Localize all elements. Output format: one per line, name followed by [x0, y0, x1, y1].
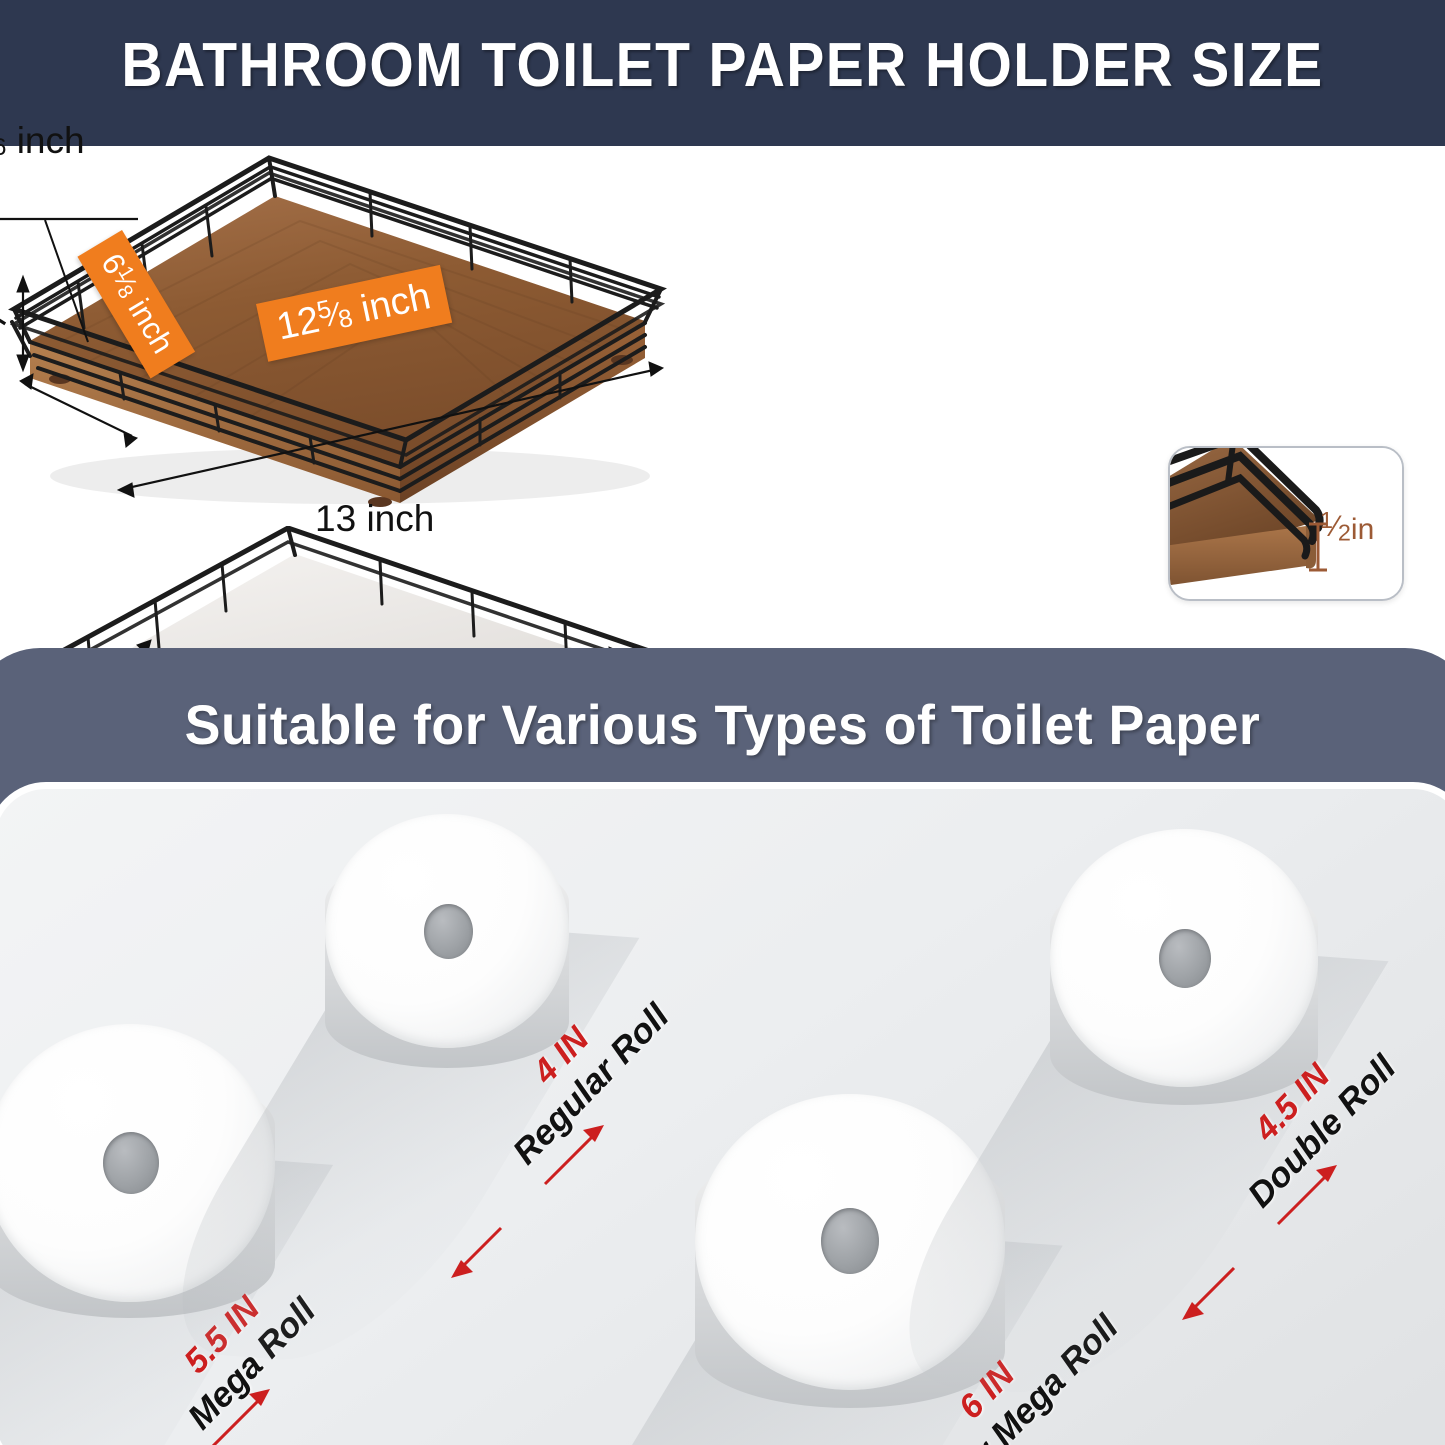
roll-super-mega-arrow	[840, 1399, 1160, 1445]
left-tray-length-label: 13 inch	[315, 498, 434, 540]
toilet-paper-rolls-panel: 5.5 IN Mega Roll 4 IN Regular Roll	[0, 782, 1445, 1445]
product-dimension-section: 19⁄16 inch 61⁄2 inch 13 inch	[0, 146, 1445, 646]
roll-core-hole	[821, 1208, 879, 1274]
rail-lip-dimension-label: 1⁄2in	[1320, 510, 1374, 549]
page-title: BATHROOM TOILET PAPER HOLDER SIZE	[58, 30, 1387, 101]
infographic-page: BATHROOM TOILET PAPER HOLDER SIZE	[0, 0, 1445, 1445]
bottom-banner-title: Suitable for Various Types of Toilet Pap…	[29, 692, 1416, 757]
left-tray-dimension-lines	[0, 116, 685, 636]
roll-core-hole	[424, 904, 473, 959]
roll-double-arrow	[1178, 1084, 1445, 1334]
left-tray-height-label: 19⁄16 inch	[0, 120, 85, 164]
roll-core-hole	[1159, 929, 1211, 988]
rail-lip-detail-card: 1⁄2in	[1168, 446, 1404, 601]
roll-core-hole	[103, 1132, 159, 1194]
